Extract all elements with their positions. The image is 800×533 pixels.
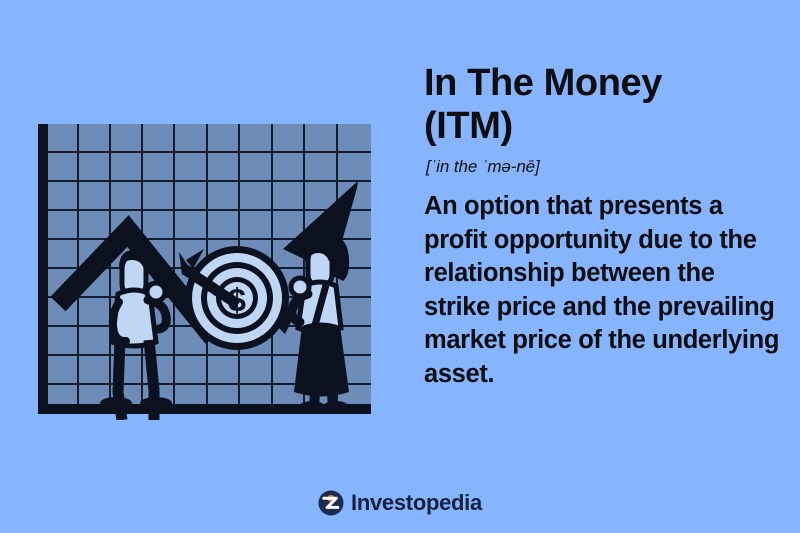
investopedia-logo-icon <box>318 490 344 516</box>
brand-footer: Investopedia <box>0 490 800 516</box>
definition-card: $ <box>0 0 800 533</box>
phone-icon <box>147 283 165 301</box>
page-title: In The Money (ITM) <box>424 62 786 148</box>
definition-text-column: In The Money (ITM) [ˈin the ˈmə-nē] An o… <box>424 62 786 391</box>
illustration-svg: $ <box>36 118 381 420</box>
y-axis <box>38 124 48 412</box>
definition-text: An option that presents a profit opportu… <box>424 190 786 391</box>
illustration-stock-chart: $ <box>36 118 381 420</box>
investopedia-wordmark: Investopedia <box>351 492 482 514</box>
phone-icon <box>291 278 309 296</box>
pronunciation: [ˈin the ˈmə-nē] <box>426 157 786 177</box>
